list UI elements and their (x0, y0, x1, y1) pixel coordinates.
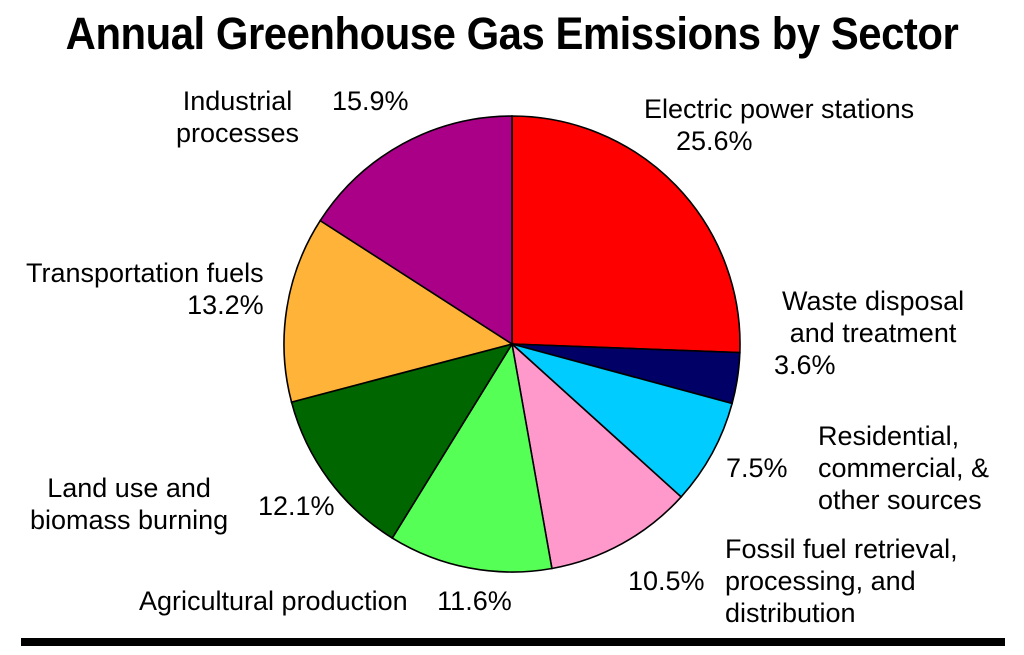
slice-label-waste-line2: and treatment (782, 317, 964, 349)
pie-chart-figure: Annual Greenhouse Gas Emissions by Secto… (0, 0, 1024, 655)
slice-label-land-use-line2: biomass burning (30, 504, 228, 536)
pie-slice-group (284, 116, 740, 572)
slice-value-fossil-fuel-retrieval: 10.5% (628, 565, 705, 597)
slice-value-residential-commercial-other: 7.5% (726, 452, 788, 484)
slice-value-land-use-and-biomass-burning: 12.1% (258, 490, 335, 522)
slice-label-transportation-fuels-text: Transportation fuels (26, 257, 264, 289)
slice-label-industrial-processes: Industrial processes 15.9% (176, 85, 299, 149)
slice-label-industrial-processes-line2: processes (176, 117, 299, 149)
slice-label-agricultural-production: Agricultural production 11.6% (139, 585, 512, 617)
slice-label-transportation-fuels: Transportation fuels 13.2% (26, 257, 264, 321)
slice-label-industrial-processes-line1: Industrial (176, 85, 299, 117)
slice-value-electric-power-stations: 25.6% (676, 125, 914, 157)
slice-label-electric-power-stations: Electric power stations 25.6% (644, 93, 914, 157)
slice-label-waste-line1: Waste disposal (782, 285, 964, 317)
slice-label-fossil-line3: distribution (725, 597, 958, 629)
slice-label-land-use-and-biomass-burning: Land use and biomass burning 12.1% (30, 472, 228, 536)
slice-value-waste-disposal-and-treatment: 3.6% (774, 349, 836, 381)
slice-label-waste-disposal-and-treatment: Waste disposal and treatment 3.6% (782, 285, 964, 349)
slice-value-transportation-fuels: 13.2% (26, 289, 264, 321)
slice-label-electric-power-stations-text: Electric power stations (644, 93, 914, 125)
slice-label-fossil-line1: Fossil fuel retrieval, (725, 533, 958, 565)
slice-label-residential-commercial-other: Residential, commercial, & other sources… (818, 420, 989, 516)
slice-value-industrial-processes: 15.9% (332, 85, 409, 117)
bottom-divider-rule (21, 638, 1005, 646)
slice-label-residential-line3: other sources (818, 484, 989, 516)
slice-label-residential-line2: commercial, & (818, 452, 989, 484)
slice-label-agricultural-production-text: Agricultural production (139, 586, 408, 616)
slice-label-fossil-line2: processing, and (725, 565, 958, 597)
slice-value-agricultural-production: 11.6% (437, 586, 512, 616)
slice-label-residential-line1: Residential, (818, 420, 989, 452)
slice-label-land-use-line1: Land use and (30, 472, 228, 504)
slice-label-fossil-fuel-retrieval: Fossil fuel retrieval, processing, and d… (725, 533, 958, 629)
